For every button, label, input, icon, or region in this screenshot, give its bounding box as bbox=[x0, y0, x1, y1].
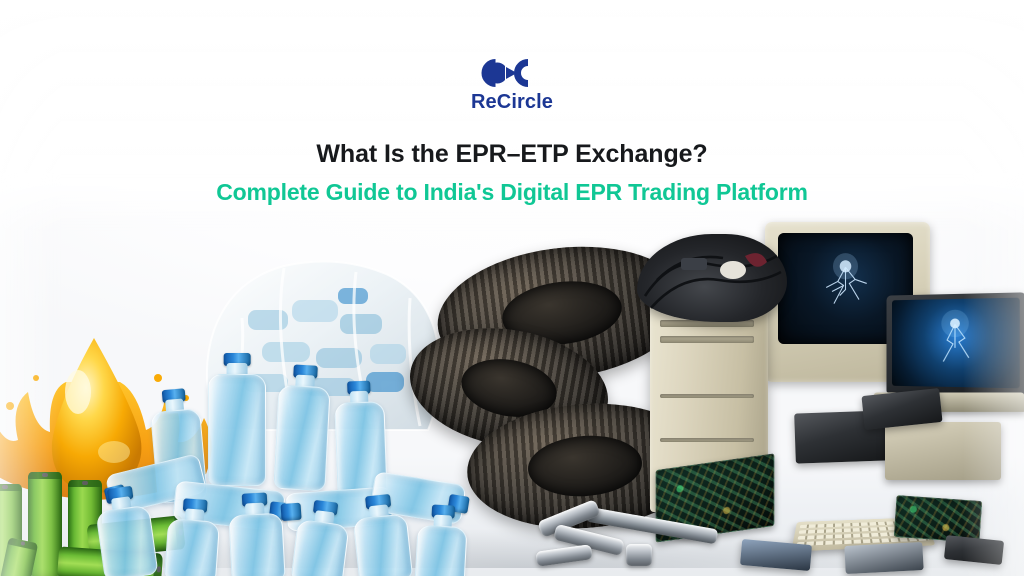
bottle bbox=[290, 519, 349, 576]
ewaste-debris bbox=[740, 539, 812, 571]
bottle bbox=[353, 513, 414, 576]
bolt bbox=[535, 544, 593, 567]
brand-block[interactable]: ReCircle bbox=[0, 58, 1024, 114]
bottle bbox=[164, 518, 220, 576]
recircle-infinity-loop-icon bbox=[475, 58, 549, 88]
tower-drive-slot bbox=[660, 336, 754, 343]
brand-name: ReCircle bbox=[471, 91, 553, 114]
bottle bbox=[228, 513, 285, 576]
title-block: What Is the EPR–ETP Exchange? Complete G… bbox=[0, 140, 1024, 206]
metal-scrap bbox=[530, 486, 730, 576]
cable-mound bbox=[637, 234, 787, 322]
laptop-screen bbox=[892, 298, 1020, 389]
page-title: What Is the EPR–ETP Exchange? bbox=[0, 140, 1024, 168]
laptop-lid bbox=[886, 292, 1024, 395]
ewaste-debris bbox=[944, 535, 1004, 565]
printer-unit bbox=[885, 422, 1001, 480]
bottle bbox=[208, 374, 266, 486]
page-subtitle: Complete Guide to India's Digital EPR Tr… bbox=[0, 180, 1024, 206]
tower-panel-seam bbox=[660, 394, 754, 398]
bottle bbox=[95, 505, 158, 576]
bottle bbox=[273, 385, 330, 492]
pet-bottles bbox=[90, 368, 460, 576]
banner-root: ReCircle What Is the EPR–ETP Exchange? C… bbox=[0, 0, 1024, 576]
tower-panel-seam bbox=[660, 438, 754, 442]
nut bbox=[626, 544, 652, 566]
bottle bbox=[414, 525, 467, 576]
circuit-board-small bbox=[894, 495, 983, 543]
ewaste-debris bbox=[844, 542, 923, 574]
